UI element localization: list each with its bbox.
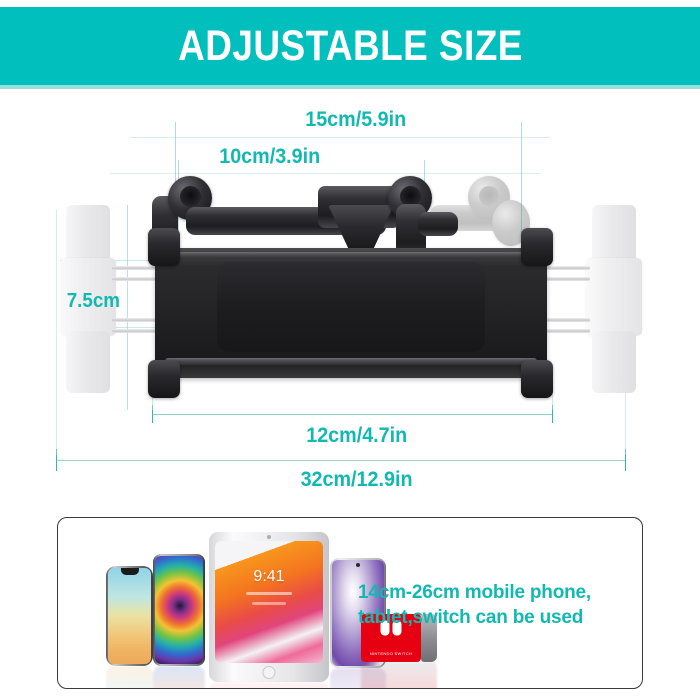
guide-line-height-vertical	[127, 205, 128, 410]
dimension-line-32cm	[56, 460, 626, 461]
clamp-grip-top-right	[521, 228, 553, 266]
dimension-label-bottom-outer: 32cm/12.9in	[301, 468, 413, 492]
iphone-device	[106, 566, 153, 666]
switch-logo-text: NINTENDO SWITCH	[370, 651, 412, 656]
clamp-grip-bottom-right	[521, 360, 553, 398]
compatibility-text: 14cm-26cm mobile phone, tablet,switch ca…	[358, 580, 591, 630]
product-diagram: 15cm/5.9in 10cm/3.9in 7.5cm 12cm/4.7in 3…	[0, 0, 700, 510]
clamp-grip-top-left	[148, 228, 180, 266]
dimension-line-12cm	[152, 414, 552, 415]
guide-line-10cm-horizontal	[110, 173, 540, 174]
infographic-page: ADJUSTABLE SIZE	[0, 0, 700, 700]
dimension-label-top-inner: 10cm/3.9in	[219, 145, 320, 169]
guide-line-32cm-left	[56, 210, 57, 455]
dimension-label-bottom-inner: 12cm/4.7in	[306, 424, 407, 448]
compatibility-line-2: tablet,switch can be used	[358, 605, 591, 630]
mate-phone-device	[153, 554, 205, 666]
dimension-label-height: 7.5cm	[67, 290, 120, 313]
compatibility-line-1: 14cm-26cm mobile phone,	[358, 580, 591, 605]
ipad-clock: 9:41	[253, 568, 284, 586]
guide-line-15cm-horizontal	[130, 137, 550, 138]
dimension-label-top-outer: 15cm/5.9in	[305, 108, 406, 132]
ipad-home-button	[263, 666, 276, 679]
ipad-camera-icon	[267, 535, 271, 539]
ipad-device: 9:41	[209, 532, 329, 682]
clamp-grip-bottom-left	[148, 360, 180, 398]
